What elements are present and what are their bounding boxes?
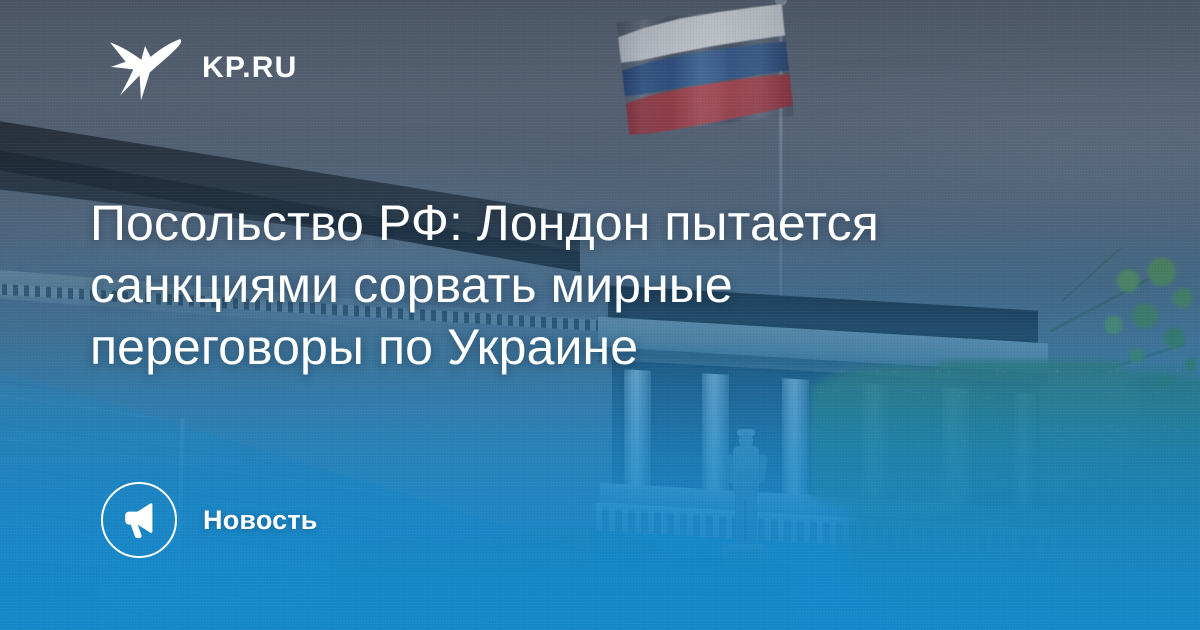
headline-line-3: переговоры по Украине — [90, 316, 1100, 378]
headline-line-2: санкциями сорвать мирные — [90, 254, 1100, 316]
headline-line-1: Посольство РФ: Лондон пытается — [90, 192, 1100, 254]
brand-name: KP.RU — [202, 53, 297, 83]
megaphone-icon — [119, 500, 159, 540]
news-badge[interactable]: Новость — [101, 482, 318, 558]
news-share-card: KP.RU Посольство РФ: Лондон пытается сан… — [0, 0, 1200, 630]
brand-logo[interactable]: KP.RU — [108, 34, 297, 102]
card-content: KP.RU Посольство РФ: Лондон пытается сан… — [0, 0, 1200, 630]
headline: Посольство РФ: Лондон пытается санкциями… — [90, 192, 1100, 378]
badge-circle — [101, 482, 177, 558]
badge-label: Новость — [203, 505, 318, 536]
swallow-bird-icon — [108, 34, 182, 102]
